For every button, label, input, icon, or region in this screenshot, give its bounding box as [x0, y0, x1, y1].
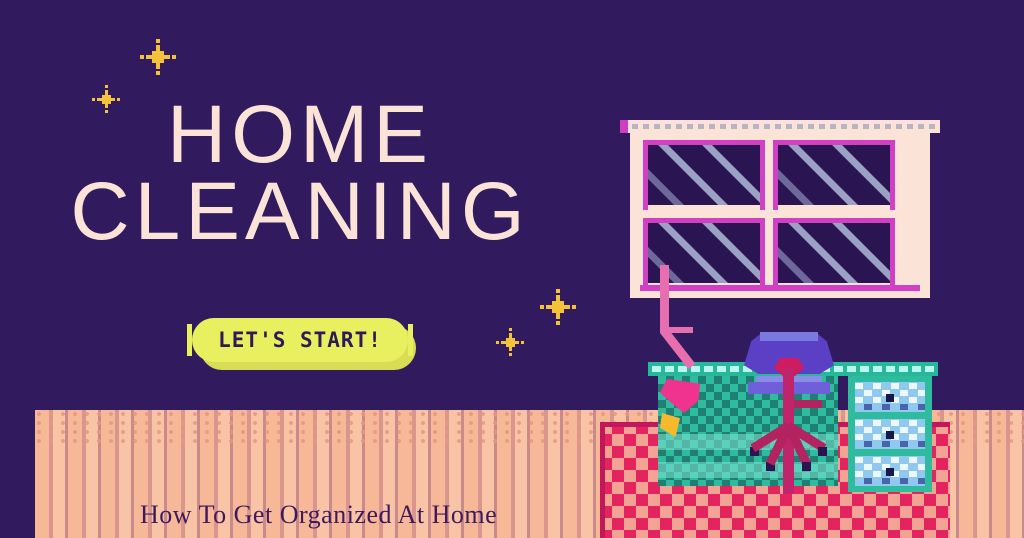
- rail-dither-dash: [830, 124, 836, 129]
- drawer-dither-pixel: [918, 404, 925, 410]
- rail-dither-dash: [863, 124, 869, 129]
- rail-dither-dash: [885, 124, 891, 129]
- star-pixel: [540, 305, 544, 309]
- drawer-dither-pixel: [918, 464, 925, 470]
- rail-dither-dash: [709, 124, 715, 129]
- drawer-dither-pixel: [864, 427, 872, 433]
- drawer-dither-pixel: [864, 478, 872, 484]
- rail-dither-dash: [918, 124, 924, 129]
- drawer-dither-pixel: [855, 471, 863, 477]
- rail-dither-dash: [929, 124, 935, 129]
- rail-dither-dash: [764, 124, 770, 129]
- drawer-dither-pixel: [864, 441, 872, 447]
- drawer-handle[interactable]: [886, 394, 894, 402]
- star-pixel: [564, 305, 570, 309]
- lamp-arm: [660, 327, 695, 369]
- chair-backrest-highlight: [760, 332, 818, 341]
- drawer-dither-pixel: [909, 383, 917, 389]
- drawer-dither-pixel: [918, 390, 925, 396]
- lets-start-button[interactable]: LET'S START!: [192, 318, 408, 362]
- drawer-dither-pixel: [873, 383, 881, 389]
- star-top-left-large-icon: [143, 42, 173, 72]
- chair-caster: [802, 462, 811, 471]
- rail-dither-dash: [852, 124, 858, 129]
- drawer-dither-pixel: [909, 397, 917, 403]
- rail-dither-dash: [907, 124, 913, 129]
- window-accent-strip: [890, 218, 895, 288]
- rail-dither-dash: [874, 124, 880, 129]
- star-pixel: [556, 295, 560, 301]
- rail-dither-dash: [676, 124, 682, 129]
- drawer-dither-pixel: [855, 457, 863, 463]
- button-body[interactable]: LET'S START!: [192, 318, 408, 362]
- drawer-dither-pixel: [864, 404, 872, 410]
- desk-top-highlight: [886, 366, 895, 372]
- desk-top-highlight: [912, 366, 921, 372]
- drawer-dither-pixel: [891, 420, 899, 426]
- drawer-dither-pixel: [909, 457, 917, 463]
- rail-dither-dash: [896, 124, 902, 129]
- rail-dither-dash: [720, 124, 726, 129]
- star-pixel: [105, 90, 108, 95]
- star-pixel: [156, 71, 160, 75]
- rail-dither-dash: [742, 124, 748, 129]
- drawer-dither-pixel: [873, 420, 881, 426]
- headline-line-1: HOME: [0, 96, 600, 173]
- drawer-dither-pixel: [855, 383, 863, 389]
- curtain-rail-cap: [620, 120, 628, 133]
- drawer-dither-pixel: [900, 427, 908, 433]
- star-pixel: [552, 301, 564, 313]
- drawer-dither-pixel: [900, 441, 908, 447]
- drawer-handle[interactable]: [886, 468, 894, 476]
- page-title: HOME CLEANING: [0, 96, 600, 250]
- rail-dither-dash: [775, 124, 781, 129]
- rail-dither-dash: [665, 124, 671, 129]
- drawer-dither-pixel: [891, 457, 899, 463]
- star-pixel: [156, 63, 160, 69]
- button-label: LET'S START!: [218, 328, 382, 352]
- home-cleaning-banner: HOME CLEANING LET'S START! How To Get Or…: [0, 0, 1024, 538]
- drawer-dither-pixel: [900, 478, 908, 484]
- subtitle-text: How To Get Organized At Home: [140, 500, 497, 530]
- rail-dither-dash: [698, 124, 704, 129]
- drawer-dither-pixel: [900, 390, 908, 396]
- drawer-dither-pixel: [918, 441, 925, 447]
- drawer-handle[interactable]: [886, 431, 894, 439]
- star-pixel: [152, 51, 164, 63]
- rail-dither-dash: [643, 124, 649, 129]
- drawer-dither-pixel: [855, 397, 863, 403]
- desk-top-highlight: [860, 366, 869, 372]
- chair-lever: [794, 400, 822, 408]
- drawer-dither-pixel: [873, 471, 881, 477]
- rail-dither-dash: [654, 124, 660, 129]
- window-pane: [778, 223, 890, 283]
- drawer-dither-pixel: [918, 427, 925, 433]
- drawer-dither-pixel: [873, 457, 881, 463]
- drawer-dither-pixel: [882, 441, 890, 447]
- chair-caster: [818, 447, 827, 456]
- drawer-dither-pixel: [909, 471, 917, 477]
- filing-cabinet: [848, 376, 932, 492]
- office-chair: [730, 322, 850, 512]
- headline-line-2: CLEANING: [0, 173, 600, 250]
- star-pixel: [156, 39, 160, 43]
- window-pane: [778, 145, 890, 205]
- window-pane: [648, 145, 760, 205]
- drawer-dither-pixel: [918, 478, 925, 484]
- drawer-dither-pixel: [864, 390, 872, 396]
- rail-dither-dash: [632, 124, 638, 129]
- drawer-dither-pixel: [900, 404, 908, 410]
- star-pixel: [105, 85, 108, 88]
- desk-top-highlight: [873, 366, 882, 372]
- rail-dither-dash: [687, 124, 693, 129]
- drawer-dither-pixel: [855, 420, 863, 426]
- drawer-dither-pixel: [873, 397, 881, 403]
- cta-button-wrapper: LET'S START!: [0, 318, 600, 362]
- drawer-dither-pixel: [882, 478, 890, 484]
- rail-dither-dash: [753, 124, 759, 129]
- rail-dither-dash: [808, 124, 814, 129]
- star-pixel: [146, 55, 152, 59]
- drawer-dither-pixel: [909, 420, 917, 426]
- desk-top-highlight: [925, 366, 934, 372]
- rail-dither-dash: [841, 124, 847, 129]
- star-pixel: [156, 45, 160, 51]
- drawer-dither-pixel: [855, 434, 863, 440]
- star-pixel: [572, 305, 576, 309]
- lamp-post: [660, 265, 669, 327]
- drawer-dither-pixel: [873, 434, 881, 440]
- star-pixel: [172, 55, 176, 59]
- drawer-dither-pixel: [891, 383, 899, 389]
- drawer-dither-pixel: [909, 434, 917, 440]
- drawer-dither-pixel: [864, 464, 872, 470]
- star-pixel: [140, 55, 144, 59]
- rail-dither-dash: [731, 124, 737, 129]
- window-accent-strip: [890, 140, 895, 210]
- star-pixel: [546, 305, 552, 309]
- rail-dither-dash: [797, 124, 803, 129]
- rail-dither-dash: [786, 124, 792, 129]
- drawer-dither-pixel: [882, 404, 890, 410]
- window-accent-strip: [760, 140, 765, 210]
- star-pixel: [164, 55, 170, 59]
- drawer-dither-pixel: [900, 464, 908, 470]
- curtain-rail: [620, 120, 940, 133]
- star-pixel: [556, 289, 560, 293]
- rail-dither-dash: [819, 124, 825, 129]
- desk-top-highlight: [899, 366, 908, 372]
